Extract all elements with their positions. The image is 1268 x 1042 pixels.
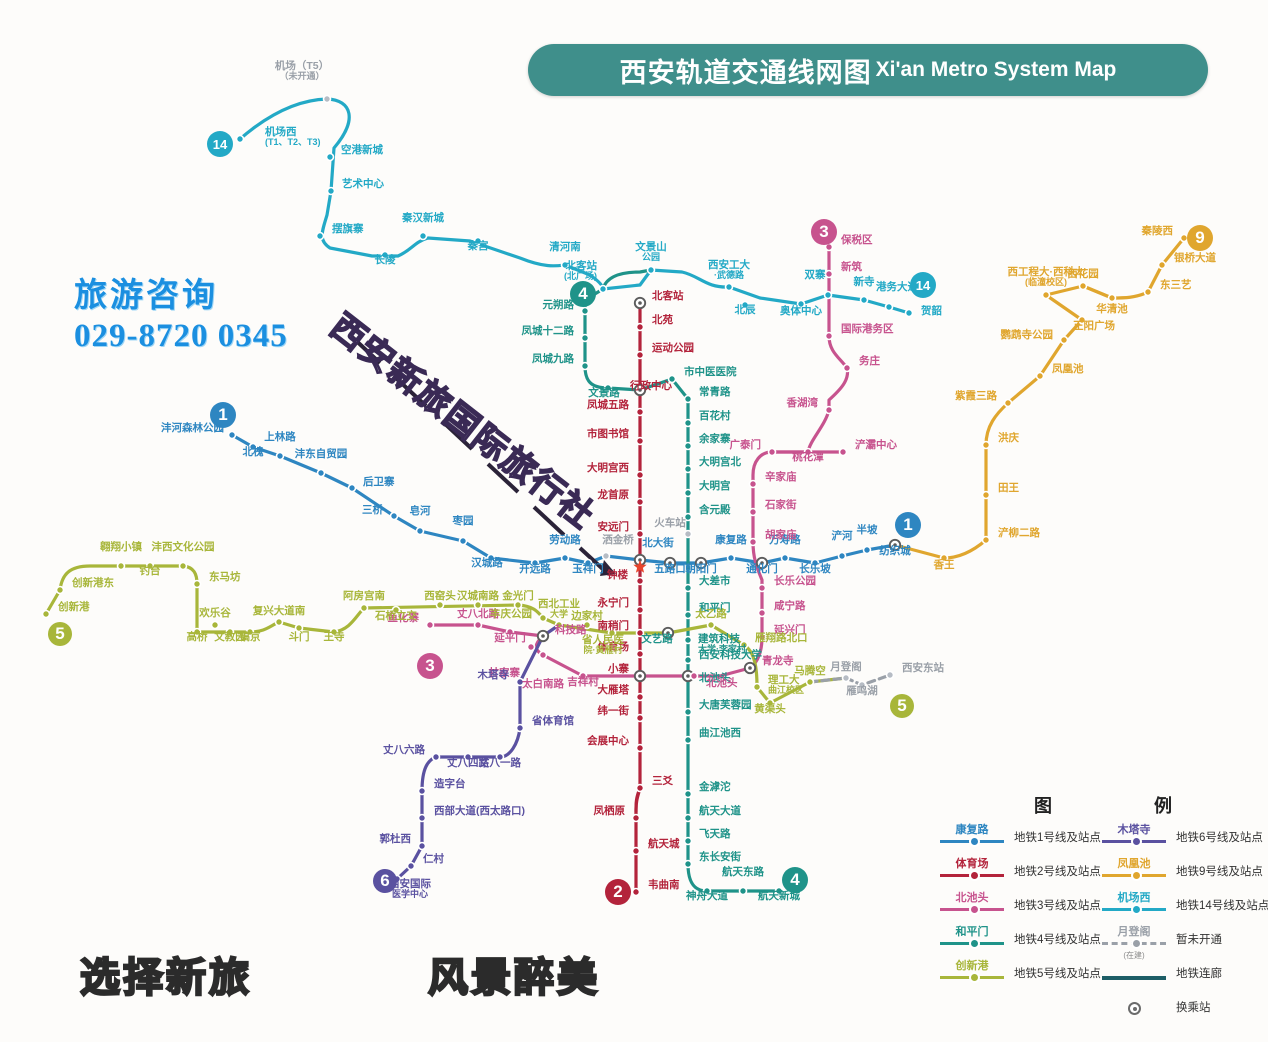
station-label[interactable]: 行政中心 <box>630 381 672 392</box>
station-marker[interactable] <box>685 815 692 822</box>
station-marker[interactable] <box>328 188 335 195</box>
station-label[interactable]: 省体育馆 <box>532 716 574 727</box>
line-number-badge-4[interactable]: 4 <box>782 867 808 893</box>
station-label[interactable]: 上林路 <box>264 432 296 443</box>
line-number-badge-3[interactable]: 3 <box>811 219 837 245</box>
station-marker[interactable] <box>562 555 569 562</box>
station-label[interactable]: 三爻 <box>652 776 673 787</box>
station-label[interactable]: 王寺 <box>324 632 345 643</box>
station-label[interactable]: 西工程大·西科大(临潼校区) <box>1008 267 1085 287</box>
station-label[interactable]: 丈八六路 <box>383 745 425 756</box>
station-marker[interactable] <box>391 513 398 520</box>
station-label[interactable]: 东马坊 <box>209 572 241 583</box>
station-marker[interactable] <box>637 785 644 792</box>
station-marker[interactable] <box>685 657 692 664</box>
line-number-badge-5[interactable]: 5 <box>890 694 914 718</box>
station-label[interactable]: 航天东路 <box>722 867 764 878</box>
station-label[interactable]: 紫霞三路 <box>955 391 997 402</box>
station-marker[interactable] <box>637 651 644 658</box>
station-label[interactable]: 汉城南路 <box>457 591 499 602</box>
station-label[interactable]: 半坡 <box>857 525 878 536</box>
station-label[interactable]: 西安工大·武德路 <box>708 260 750 280</box>
station-marker[interactable] <box>327 154 334 161</box>
station-label[interactable]: 凤城十二路 <box>522 326 575 337</box>
station-label[interactable]: 南稍门 <box>598 621 630 632</box>
station-label[interactable]: 新筑 <box>841 262 862 273</box>
station-label[interactable]: 文景路 <box>588 388 620 399</box>
station-label[interactable]: 复兴大道南 <box>253 606 306 617</box>
station-marker[interactable] <box>582 308 589 315</box>
station-label[interactable]: 钟楼 <box>607 570 628 581</box>
station-label[interactable]: 艺术中心 <box>342 179 384 190</box>
station-marker[interactable] <box>1159 262 1166 269</box>
station-label[interactable]: 机场西(T1、T2、T3) <box>265 127 321 147</box>
station-label[interactable]: 贺韶 <box>921 306 942 317</box>
station-label[interactable]: 镐京 <box>240 632 261 643</box>
station-label-line: 雁鸣湖 <box>846 686 878 697</box>
station-label-line: 大唐芙蓉园 <box>699 700 752 711</box>
station-marker[interactable] <box>826 271 833 278</box>
station-label[interactable]: 劳动路 <box>549 535 581 546</box>
legend-description: 地铁6号线及站点 <box>1176 829 1263 845</box>
station-marker[interactable] <box>691 673 698 680</box>
station-marker[interactable] <box>276 619 283 626</box>
station-label[interactable]: 木塔寺 <box>478 670 510 681</box>
legend-station-dot <box>1131 836 1142 847</box>
station-marker[interactable] <box>685 861 692 868</box>
station-label[interactable]: 欢乐谷 <box>199 608 231 619</box>
station-marker[interactable] <box>324 96 331 103</box>
station-label[interactable]: 银桥大道 <box>1174 253 1216 264</box>
station-marker[interactable] <box>637 694 644 701</box>
station-label[interactable]: 北槐 <box>243 447 264 458</box>
station-label[interactable]: 市中医医院 <box>684 367 737 378</box>
line-number-badge-14[interactable]: 14 <box>910 272 936 298</box>
station-label[interactable]: 延平门 <box>494 633 526 644</box>
station-label[interactable]: 鹦鹉寺公园 <box>1001 330 1054 341</box>
station-label[interactable]: 造字台 <box>434 779 466 790</box>
station-marker[interactable] <box>229 432 236 439</box>
station-label[interactable]: 凤凰池 <box>1052 364 1084 375</box>
station-label[interactable]: 小寨 <box>608 664 629 675</box>
station-label[interactable]: 元朔路 <box>543 300 575 311</box>
station-label[interactable]: 大雁塔 <box>598 685 630 696</box>
station-marker[interactable] <box>433 754 440 761</box>
station-label[interactable]: 凤城五路 <box>587 400 629 411</box>
station-label[interactable]: 浐灞中心 <box>855 440 897 451</box>
station-marker[interactable] <box>685 396 692 403</box>
station-label[interactable]: 创新港东 <box>72 578 114 589</box>
station-label[interactable]: 雁翔路北口 <box>755 633 808 644</box>
station-marker[interactable] <box>637 578 644 585</box>
station-marker[interactable] <box>983 442 990 449</box>
station-marker[interactable] <box>844 365 851 372</box>
station-marker[interactable] <box>637 499 644 506</box>
line-number-badge-3[interactable]: 3 <box>417 653 443 679</box>
line-number-badge-14[interactable]: 14 <box>207 131 233 157</box>
station-label-line: 欢乐谷 <box>199 608 231 619</box>
station-marker[interactable] <box>194 581 201 588</box>
station-marker[interactable] <box>417 528 424 535</box>
station-label[interactable]: 朝阳门 <box>685 564 717 575</box>
station-label[interactable]: 辛家庙 <box>765 472 797 483</box>
station-marker[interactable] <box>759 585 766 592</box>
station-label-line: 仁村 <box>423 854 444 865</box>
station-label[interactable]: 常青路 <box>699 387 731 398</box>
station-label[interactable]: 长乐公园 <box>774 576 816 587</box>
station-marker[interactable] <box>861 297 868 304</box>
station-marker[interactable] <box>633 815 640 822</box>
station-label[interactable]: 华清池 <box>1096 304 1128 315</box>
station-label[interactable]: 丰庆公园 <box>490 609 532 620</box>
station-label[interactable]: 秦陵西 <box>1142 226 1174 237</box>
station-label[interactable]: 长陵 <box>375 255 396 266</box>
station-label[interactable]: 丈八四路 <box>447 758 489 769</box>
transfer-station-marker[interactable] <box>745 663 755 673</box>
station-label[interactable]: 咸宁路 <box>774 601 806 612</box>
station-label[interactable]: 北苑 <box>652 315 673 326</box>
station-label[interactable]: 创新港 <box>58 602 90 613</box>
station-label[interactable]: 北客站 <box>652 291 684 302</box>
station-label[interactable]: 奥体中心 <box>780 306 822 317</box>
station-marker[interactable] <box>637 472 644 479</box>
station-marker[interactable] <box>419 815 426 822</box>
station-marker[interactable] <box>750 539 757 546</box>
station-label[interactable]: 后卫寨 <box>363 477 395 488</box>
station-label-line: 沣西文化公园 <box>152 542 215 553</box>
station-marker[interactable] <box>408 863 415 870</box>
legend-row-left-4: 创新港地铁5号线及站点 <box>938 956 1101 990</box>
station-label[interactable]: 西安东站 <box>902 663 944 674</box>
station-label[interactable]: 西安科技大学 <box>699 650 762 661</box>
station-marker[interactable] <box>637 324 644 331</box>
station-marker[interactable] <box>212 622 219 629</box>
station-label[interactable]: 钓台 <box>140 566 161 577</box>
station-marker[interactable] <box>460 538 467 545</box>
station-label[interactable]: 桃花潭 <box>792 452 824 463</box>
station-marker[interactable] <box>906 310 913 317</box>
station-label-line: 马腾空 <box>794 666 826 677</box>
station-marker[interactable] <box>754 684 761 691</box>
station-label[interactable]: 新寺 <box>854 277 875 288</box>
station-label[interactable]: 理工大曲江校区 <box>768 675 804 695</box>
station-label-line: 丈八四路 <box>447 758 489 769</box>
station-marker[interactable] <box>1043 292 1050 299</box>
station-label-line: 国际港务区 <box>841 324 894 335</box>
station-label[interactable]: 石桥立交 <box>375 611 417 622</box>
station-label[interactable]: 清河南 <box>549 242 581 253</box>
station-label[interactable]: 郭杜西 <box>380 834 412 845</box>
station-label[interactable]: 玉祥门 <box>572 564 604 575</box>
station-label[interactable]: 阿房宫南 <box>343 591 385 602</box>
station-marker[interactable] <box>540 652 547 659</box>
line-number-badge-6[interactable]: 6 <box>373 869 397 893</box>
line-number-badge-9[interactable]: 9 <box>1187 225 1213 251</box>
legend-sample-station-name: 月登阁 <box>1100 923 1168 939</box>
station-label[interactable]: 纬一街 <box>598 706 630 717</box>
transfer-station-marker[interactable] <box>635 671 645 681</box>
station-label[interactable]: 边家村 <box>571 611 603 622</box>
station-marker[interactable] <box>475 622 482 629</box>
station-marker[interactable] <box>633 848 640 855</box>
station-marker[interactable] <box>807 679 814 686</box>
station-marker[interactable] <box>685 420 692 427</box>
line-number-badge-1[interactable]: 1 <box>895 512 921 538</box>
station-label[interactable]: 大明宫北 <box>699 457 741 468</box>
station-label[interactable]: 浐河 <box>832 531 853 542</box>
station-label[interactable]: 神舟大道 <box>686 891 728 902</box>
station-marker[interactable] <box>1061 337 1068 344</box>
station-label[interactable]: 摆旗寨 <box>332 224 364 235</box>
station-marker[interactable] <box>769 449 776 456</box>
station-label[interactable]: 保税区 <box>841 235 873 246</box>
station-marker[interactable] <box>685 466 692 473</box>
station-marker[interactable] <box>1037 373 1044 380</box>
station-label[interactable]: 金滹沱 <box>699 782 731 793</box>
station-marker[interactable] <box>825 292 832 299</box>
station-label[interactable]: 青龙寺 <box>762 656 794 667</box>
station-marker[interactable] <box>419 843 426 850</box>
station-marker[interactable] <box>637 745 644 752</box>
station-marker[interactable] <box>685 531 692 538</box>
station-label[interactable]: 翱翔小镇 <box>100 542 142 553</box>
station-label[interactable]: 国际港务区 <box>841 324 894 335</box>
station-marker[interactable] <box>637 352 644 359</box>
station-label[interactable]: 石家街 <box>765 500 797 511</box>
station-marker[interactable] <box>603 553 610 560</box>
transfer-station-marker[interactable] <box>635 298 645 308</box>
station-label[interactable]: 长乐坡 <box>799 564 831 575</box>
station-label-line: 上林路 <box>264 432 296 443</box>
station-marker[interactable] <box>1109 295 1116 302</box>
station-label[interactable]: 通化门 <box>746 564 778 575</box>
station-marker[interactable] <box>839 553 846 560</box>
station-label[interactable]: 秦汉新城 <box>402 213 444 224</box>
station-marker[interactable] <box>318 470 325 477</box>
station-marker[interactable] <box>750 481 757 488</box>
line-number-badge-5[interactable]: 5 <box>48 622 72 646</box>
station-label[interactable]: 机场（T5）（未开通） <box>275 61 329 81</box>
station-marker[interactable] <box>840 449 847 456</box>
station-label[interactable]: 仁村 <box>423 854 444 865</box>
station-label[interactable]: 开远路 <box>519 564 551 575</box>
station-marker[interactable] <box>740 888 747 895</box>
station-label-line: 凤城九路 <box>532 354 574 365</box>
station-label[interactable]: 香王 <box>934 560 955 571</box>
station-label[interactable]: 西窑头 <box>424 591 456 602</box>
station-label[interactable]: 曲江池西 <box>699 728 741 739</box>
station-label[interactable]: 北客站(北广场) <box>564 261 597 281</box>
station-marker[interactable] <box>528 644 535 651</box>
line-number-badge-2[interactable]: 2 <box>605 879 631 905</box>
station-marker[interactable] <box>983 537 990 544</box>
station-marker[interactable] <box>886 304 893 311</box>
station-label[interactable]: 东长安街 <box>699 852 741 863</box>
station-marker[interactable] <box>582 335 589 342</box>
station-marker[interactable] <box>317 233 324 240</box>
station-marker[interactable] <box>43 611 50 618</box>
station-label[interactable]: 北大街 <box>642 538 674 549</box>
station-marker[interactable] <box>887 672 894 679</box>
station-label[interactable]: 洪庆 <box>998 433 1019 444</box>
station-label[interactable]: 秦宫 <box>468 241 489 252</box>
station-label-line: 劳动路 <box>549 535 581 546</box>
station-marker[interactable] <box>180 563 187 570</box>
tourism-ad-block: 旅游咨询 029-8720 0345 <box>74 268 288 355</box>
station-marker[interactable] <box>633 889 640 896</box>
station-label[interactable]: 航天大道 <box>699 806 741 817</box>
station-marker[interactable] <box>983 492 990 499</box>
station-label[interactable]: 安远门 <box>598 522 630 533</box>
station-marker[interactable] <box>1005 400 1012 407</box>
station-label-line: 曲江校区 <box>768 686 804 695</box>
station-label[interactable]: 大明宫西 <box>587 463 629 474</box>
station-label[interactable]: 飞天路 <box>699 829 731 840</box>
station-marker[interactable] <box>685 585 692 592</box>
station-label[interactable]: 空港新城 <box>341 145 383 156</box>
station-marker[interactable] <box>685 490 692 497</box>
station-label[interactable]: 余家寨 <box>699 434 731 445</box>
station-label[interactable]: 太乙路 <box>695 609 727 620</box>
station-label[interactable]: 太白南路 <box>522 679 564 690</box>
station-marker[interactable] <box>419 788 426 795</box>
station-marker[interactable] <box>277 453 284 460</box>
station-label[interactable]: 龙首原 <box>598 490 630 501</box>
station-marker[interactable] <box>685 791 692 798</box>
station-label[interactable]: 香湖湾 <box>787 398 819 409</box>
station-label[interactable]: 金光门 <box>502 591 534 602</box>
station-label[interactable]: 沣西文化公园 <box>152 542 215 553</box>
station-marker[interactable] <box>759 610 766 617</box>
station-label[interactable]: 三桥 <box>362 505 383 516</box>
station-marker[interactable] <box>782 555 789 562</box>
station-marker[interactable] <box>237 136 244 143</box>
station-marker[interactable] <box>708 622 715 629</box>
station-marker[interactable] <box>420 233 427 240</box>
station-marker[interactable] <box>57 587 64 594</box>
station-label[interactable]: 月登阁 <box>830 662 862 673</box>
station-label[interactable]: 火车站 <box>654 518 686 529</box>
station-label[interactable]: 汉城路 <box>471 558 503 569</box>
station-marker[interactable] <box>637 409 644 416</box>
station-label[interactable]: 洒金桥 <box>602 535 634 546</box>
legend-station-dot <box>969 836 980 847</box>
station-label[interactable]: 凤栖原 <box>594 806 626 817</box>
station-label[interactable]: 雁鸣湖 <box>846 686 878 697</box>
station-label-line: 大明宫西 <box>587 463 629 474</box>
station-label[interactable]: 文景山公园 <box>635 242 667 262</box>
station-label[interactable]: 航天城 <box>648 839 680 850</box>
station-label[interactable]: 正阳广场 <box>1073 321 1115 332</box>
station-marker[interactable] <box>1145 289 1152 296</box>
station-label[interactable]: 永宁门 <box>598 598 630 609</box>
station-label[interactable]: 北池头 <box>706 678 738 689</box>
station-label[interactable]: 运动公园 <box>652 343 694 354</box>
station-marker[interactable] <box>685 709 692 716</box>
station-marker[interactable] <box>648 267 655 274</box>
station-label[interactable]: 百花村 <box>699 411 731 422</box>
station-label[interactable]: 浐柳二路 <box>998 528 1040 539</box>
legend-sample-station-name: 体育场 <box>938 855 1006 871</box>
line-number-badge-1[interactable]: 1 <box>210 402 236 428</box>
station-marker[interactable] <box>750 509 757 516</box>
station-label[interactable]: 广泰门 <box>730 440 762 451</box>
station-marker[interactable] <box>361 605 368 612</box>
slogan-left: 选择新旅 <box>80 945 252 1003</box>
station-label[interactable]: 双寨 <box>805 270 826 281</box>
station-marker[interactable] <box>118 563 125 570</box>
station-marker[interactable] <box>637 607 644 614</box>
station-label[interactable]: 省人民医院·黄雁村 <box>582 635 624 655</box>
station-label[interactable]: 大明宫 <box>699 481 731 492</box>
legend-line-sample: 凤凰池 <box>1100 856 1168 886</box>
line-number-badge-4[interactable]: 4 <box>570 281 596 307</box>
station-label[interactable]: 含元殿 <box>699 505 731 516</box>
station-label[interactable]: 务庄 <box>859 356 880 367</box>
station-label[interactable]: 大差市 <box>699 576 731 587</box>
station-label[interactable]: 马腾空 <box>794 666 826 677</box>
station-marker[interactable] <box>826 333 833 340</box>
station-marker[interactable] <box>637 438 644 445</box>
station-marker[interactable] <box>685 838 692 845</box>
station-label[interactable]: 皂河 <box>410 506 431 517</box>
station-label[interactable]: 市图书馆 <box>587 429 629 440</box>
station-label[interactable]: 会展中心 <box>587 736 629 747</box>
station-marker[interactable] <box>582 363 589 370</box>
station-label[interactable]: 高桥 <box>187 632 208 643</box>
station-label[interactable]: 黄渠头 <box>754 704 786 715</box>
station-label[interactable]: 田王 <box>998 483 1019 494</box>
station-marker[interactable] <box>685 612 692 619</box>
station-label[interactable]: 凤城九路 <box>532 354 574 365</box>
station-marker[interactable] <box>600 286 607 293</box>
station-marker[interactable] <box>864 547 871 554</box>
station-label[interactable]: 东三艺 <box>1160 280 1192 291</box>
station-marker[interactable] <box>826 407 833 414</box>
station-label[interactable]: 枣园 <box>453 516 474 527</box>
transfer-station-marker[interactable] <box>538 631 548 641</box>
station-label[interactable]: 斗门 <box>289 632 310 643</box>
station-label[interactable]: 沣东自贸园 <box>295 449 348 460</box>
station-label-line: 凤栖原 <box>594 806 626 817</box>
station-label[interactable]: 纺织城 <box>879 546 911 557</box>
station-label[interactable]: 西部大道(西太路口) <box>434 806 525 817</box>
station-label-line: 文景路 <box>588 388 620 399</box>
station-label[interactable]: 文艺路 <box>641 634 673 645</box>
station-marker[interactable] <box>685 443 692 450</box>
legend-description: 地铁14号线及站点 <box>1176 897 1268 913</box>
station-label[interactable]: 吉祥村 <box>567 677 599 688</box>
station-label[interactable]: 康复路 <box>715 535 747 546</box>
station-marker[interactable] <box>843 675 850 682</box>
station-label[interactable]: 韦曲南 <box>648 880 680 891</box>
station-marker[interactable] <box>517 725 524 732</box>
station-label[interactable]: 北辰 <box>735 305 756 316</box>
station-marker[interactable] <box>437 602 444 609</box>
station-marker[interactable] <box>349 485 356 492</box>
station-label[interactable]: 大唐芙蓉园 <box>699 700 752 711</box>
station-marker[interactable] <box>427 622 434 629</box>
station-marker[interactable] <box>726 284 733 291</box>
station-label[interactable]: 五路口 <box>654 564 686 575</box>
legend-line-sample: 木塔寺 <box>1100 822 1168 852</box>
legend-title-char2: 例 <box>1154 792 1174 818</box>
station-marker[interactable] <box>685 737 692 744</box>
station-marker[interactable] <box>637 715 644 722</box>
station-marker[interactable] <box>728 555 735 562</box>
station-label[interactable]: 胡家庙 <box>765 530 797 541</box>
station-marker[interactable] <box>685 637 692 644</box>
